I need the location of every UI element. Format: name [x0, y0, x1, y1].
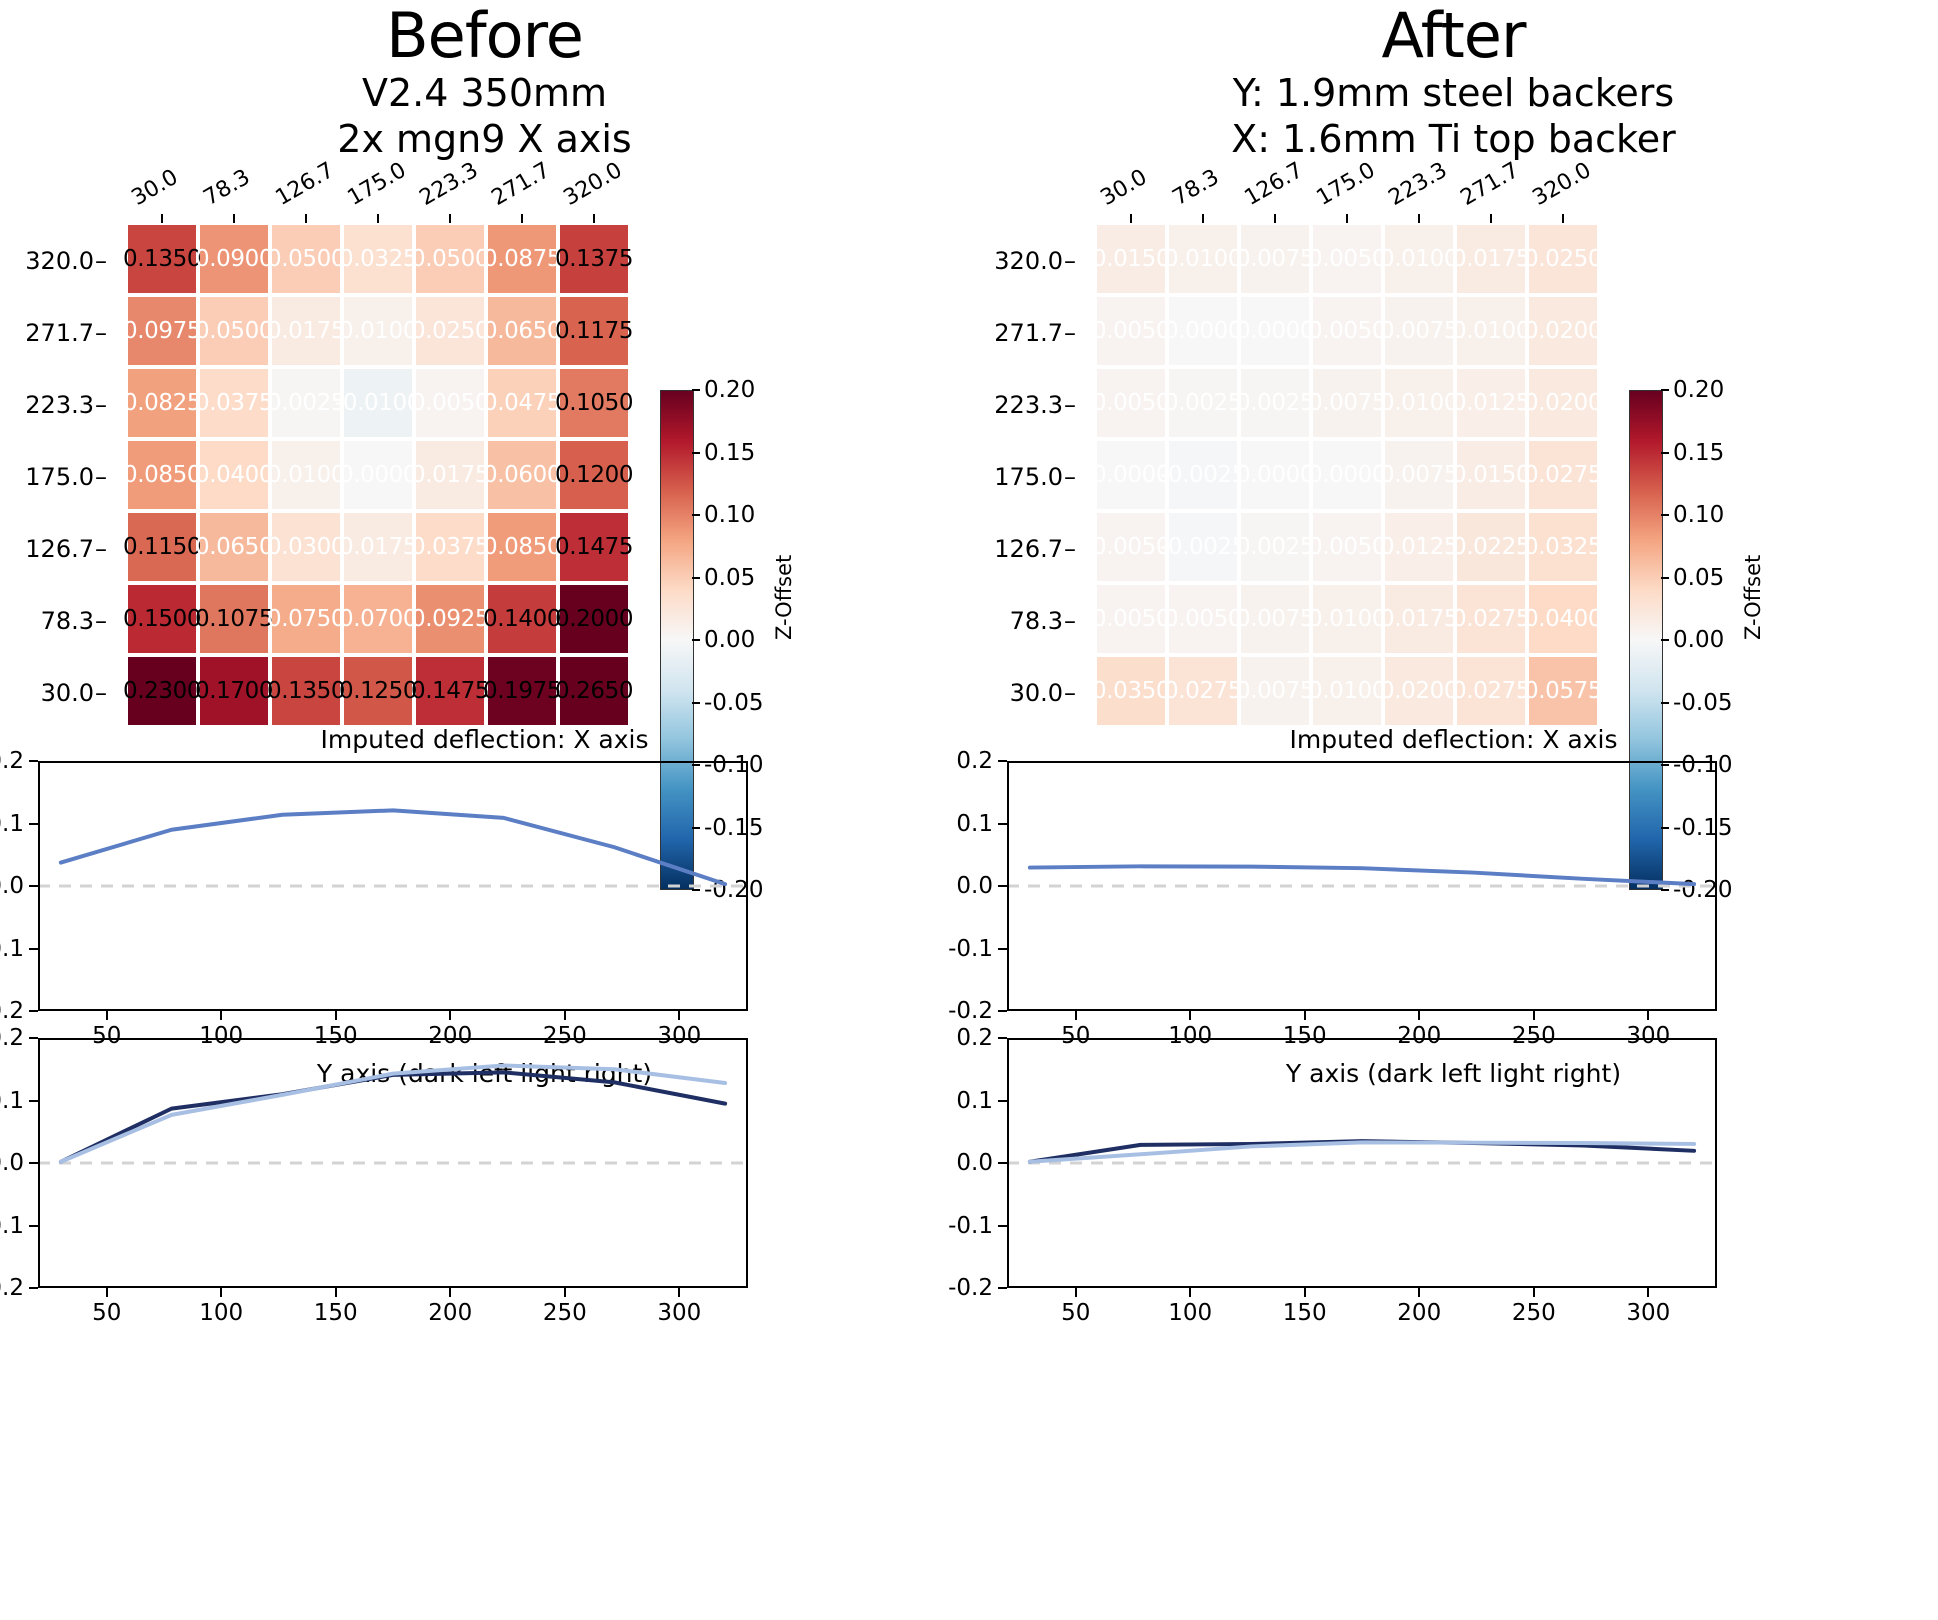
heatmap-cell: 0.0000: [1241, 297, 1309, 365]
heatmap-cell: 0.0000: [344, 441, 412, 509]
panel-subtitle-2: 2x mgn9 X axis: [0, 116, 969, 162]
heatmap-cell: 0.0150: [1097, 225, 1165, 293]
heatmap-cell: 0.0175: [272, 297, 340, 365]
heatmap-cell: 0.0825: [128, 369, 196, 437]
figure-root: BeforeV2.4 350mm2x mgn9 X axis30.078.312…: [0, 0, 1938, 1620]
heatmap-row-label: 223.3: [25, 391, 94, 419]
row-tick: –: [1063, 679, 1077, 707]
heatmap-row-label: 271.7: [994, 319, 1063, 347]
colorbar-axis-label: Z-Offset: [1741, 555, 1765, 640]
heatmap-cell: 0.0100: [1169, 225, 1237, 293]
heatmap-row-label-wrap: 271.7–: [0, 297, 112, 369]
y-tick-mark: [29, 1162, 38, 1164]
x-tick-mark: [1075, 1011, 1077, 1020]
colorbar-tickmark: [692, 639, 700, 641]
heatmap-cell: 0.0300: [272, 513, 340, 581]
heatmap-cell: 0.0050: [1097, 513, 1165, 581]
column-tick: [521, 214, 523, 223]
y-tick-label: 0.2: [956, 1025, 993, 1051]
heatmap-cell: 0.2000: [560, 585, 628, 653]
x-tick-mark: [1189, 1288, 1191, 1297]
x-tick-label: 200: [428, 1300, 472, 1326]
x-tick-mark: [678, 1288, 680, 1297]
colorbar-tickmark: [1661, 452, 1669, 454]
x-tick-mark: [1075, 1288, 1077, 1297]
heatmap-row-label-wrap: 320.0–: [0, 225, 112, 297]
heatmap-cell: 0.0400: [200, 441, 268, 509]
heatmap-cell: 0.0275: [1457, 657, 1525, 725]
heatmap-row-label: 320.0: [25, 247, 94, 275]
heatmap-cell: 0.0325: [1529, 513, 1597, 581]
heatmap-cell: 0.0500: [200, 297, 268, 365]
y-tick-label: -0.2: [948, 998, 993, 1024]
panel-title: After: [969, 2, 1938, 70]
heatmap-cell: 0.0975: [128, 297, 196, 365]
line-plot-plot_top: Imputed deflection: X axis0.20.10.0-0.1-…: [969, 725, 1938, 1065]
y-tick-label: 0.1: [956, 811, 993, 837]
x-tick-mark: [1418, 1011, 1420, 1020]
heatmap: 30.078.3126.7175.0223.3271.7320.0320.0–2…: [969, 165, 1938, 730]
heatmap-row-label: 271.7: [25, 319, 94, 347]
x-tick-mark: [220, 1288, 222, 1297]
heatmap-column-label: 271.7: [488, 158, 555, 211]
heatmap-row-label: 126.7: [25, 535, 94, 563]
heatmap-cell: 0.0025: [1169, 369, 1237, 437]
heatmap-row-label: 126.7: [994, 535, 1063, 563]
heatmap-row-label-wrap: 223.3–: [969, 369, 1081, 441]
x-tick-mark: [1647, 1011, 1649, 1020]
x-tick-mark: [449, 1288, 451, 1297]
heatmap-cell: 0.0475: [488, 369, 556, 437]
colorbar-tick-label: 0.15: [704, 440, 755, 466]
panel-subtitle-2: X: 1.6mm Ti top backer: [969, 116, 1938, 162]
heatmap-cell: 0.1150: [128, 513, 196, 581]
x-tick-mark: [106, 1288, 108, 1297]
colorbar-tick-label: 0.00: [704, 627, 755, 653]
y-tick-label: -0.1: [0, 936, 24, 962]
row-tick: –: [94, 679, 108, 707]
column-tick: [449, 214, 451, 223]
heatmap-cell: 0.0200: [1529, 369, 1597, 437]
heatmap-cell: 0.1175: [560, 297, 628, 365]
heatmap-cell: 0.0050: [1097, 297, 1165, 365]
colorbar-tick-label: 0.15: [1673, 440, 1724, 466]
colorbar-tickmark: [692, 389, 700, 391]
heatmap-row-label-wrap: 78.3–: [0, 585, 112, 657]
heatmap-cell: 0.1050: [560, 369, 628, 437]
column-tick: [161, 214, 163, 223]
heatmap-cell: 0.0325: [344, 225, 412, 293]
plot-title: Imputed deflection: X axis: [0, 725, 969, 754]
heatmap-column-label: 175.0: [344, 158, 411, 211]
heatmap-cell: 0.0225: [1457, 513, 1525, 581]
colorbar-tick-label: -0.05: [1673, 690, 1733, 716]
heatmap-column-label: 78.3: [1169, 165, 1224, 211]
y-tick-mark: [998, 760, 1007, 762]
column-tick: [1418, 214, 1420, 223]
x-tick-mark: [449, 1011, 451, 1020]
y-tick-label: 0.0: [956, 873, 993, 899]
heatmap-cell: 0.0850: [128, 441, 196, 509]
heatmap-cell: 0.0100: [344, 297, 412, 365]
y-tick-mark: [998, 823, 1007, 825]
colorbar-tick-label: 0.05: [704, 565, 755, 591]
heatmap-cell: 0.0750: [272, 585, 340, 653]
heatmap-cell: 0.0075: [1241, 585, 1309, 653]
heatmap-cell: 0.0125: [1385, 513, 1453, 581]
x-tick-mark: [1189, 1011, 1191, 1020]
heatmap-cell: 0.1975: [488, 657, 556, 725]
colorbar-tick-label: -0.05: [704, 690, 764, 716]
heatmap-cell: 0.0700: [344, 585, 412, 653]
column-tick: [377, 214, 379, 223]
heatmap-cell: 0.1250: [344, 657, 412, 725]
row-tick: –: [1063, 607, 1077, 635]
y-tick-label: 0.1: [0, 1088, 24, 1114]
colorbar-tickmark: [692, 577, 700, 579]
heatmap-column-label: 78.3: [200, 165, 255, 211]
heatmap-cell: 0.1075: [200, 585, 268, 653]
heatmap-cell: 0.0850: [488, 513, 556, 581]
heatmap-cell: 0.2650: [560, 657, 628, 725]
y-tick-mark: [29, 823, 38, 825]
x-tick-mark: [1647, 1288, 1649, 1297]
heatmap-cell: 0.0575: [1529, 657, 1597, 725]
y-tick-label: 0.2: [0, 1025, 24, 1051]
panel-before: BeforeV2.4 350mm2x mgn9 X axis30.078.312…: [0, 0, 969, 1620]
heatmap-row-label: 223.3: [994, 391, 1063, 419]
y-tick-label: 0.0: [0, 873, 24, 899]
column-tick: [1202, 214, 1204, 223]
y-tick-label: -0.2: [0, 998, 24, 1024]
heatmap-cell: 0.0050: [1169, 585, 1237, 653]
y-tick-mark: [998, 1287, 1007, 1289]
colorbar-tickmark: [1661, 702, 1669, 704]
heatmap-cell: 0.0000: [1169, 297, 1237, 365]
heatmap-cell: 0.0000: [1097, 441, 1165, 509]
heatmap-cell: 0.0125: [1457, 369, 1525, 437]
row-tick: –: [94, 319, 108, 347]
heatmap-cell: 0.0025: [1241, 369, 1309, 437]
heatmap-cell: 0.1350: [128, 225, 196, 293]
y-tick-label: 0.2: [956, 748, 993, 774]
y-tick-mark: [29, 1287, 38, 1289]
column-tick: [1490, 214, 1492, 223]
heatmap-cell: 0.0025: [272, 369, 340, 437]
heatmap-row-label-wrap: 78.3–: [969, 585, 1081, 657]
heatmap-cell: 0.1475: [560, 513, 628, 581]
heatmap-cell: 0.0175: [344, 513, 412, 581]
heatmap-cell: 0.0275: [1169, 657, 1237, 725]
column-tick: [1274, 214, 1276, 223]
heatmap-row-label-wrap: 271.7–: [969, 297, 1081, 369]
heatmap-cell: 0.0250: [1529, 225, 1597, 293]
y-tick-mark: [29, 948, 38, 950]
column-tick: [593, 214, 595, 223]
heatmap-cell: 0.0075: [1241, 225, 1309, 293]
heatmap: 30.078.3126.7175.0223.3271.7320.0320.0–2…: [0, 165, 969, 730]
x-tick-mark: [335, 1011, 337, 1020]
line-plot-plot_bottom: 0.20.10.0-0.1-0.250100150200250300: [0, 1032, 969, 1372]
heatmap-cell: 0.0875: [488, 225, 556, 293]
colorbar-tickmark: [1661, 639, 1669, 641]
heatmap-row-label: 175.0: [994, 463, 1063, 491]
x-tick-label: 50: [92, 1300, 121, 1326]
heatmap-cell: 0.0275: [1529, 441, 1597, 509]
heatmap-cell: 0.0075: [1385, 297, 1453, 365]
y-tick-label: 0.2: [0, 748, 24, 774]
x-tick-label: 150: [314, 1300, 358, 1326]
plot-area: [1007, 761, 1717, 1011]
heatmap-row-label-wrap: 126.7–: [969, 513, 1081, 585]
heatmap-column-label: 175.0: [1313, 158, 1380, 211]
x-tick-label: 200: [1397, 1300, 1441, 1326]
y-tick-mark: [29, 1100, 38, 1102]
heatmap-cell: 0.0075: [1313, 369, 1381, 437]
heatmap-cell: 0.1200: [560, 441, 628, 509]
heatmap-cell: 0.0075: [1385, 441, 1453, 509]
y-tick-mark: [29, 885, 38, 887]
panel-subtitle-1: V2.4 350mm: [0, 70, 969, 116]
y-tick-mark: [998, 1037, 1007, 1039]
heatmap-cell: -0.0025: [1169, 513, 1237, 581]
heatmap-cell: 0.0100: [1313, 657, 1381, 725]
x-tick-label: 100: [199, 1300, 243, 1326]
row-tick: –: [1063, 391, 1077, 419]
column-tick: [305, 214, 307, 223]
colorbar-tickmark: [1661, 577, 1669, 579]
row-tick: –: [1063, 535, 1077, 563]
heatmap-row-label: 30.0: [41, 679, 94, 707]
heatmap-cell: 0.0100: [1313, 585, 1381, 653]
plot-area: [38, 761, 748, 1011]
line-plot-plot_top: Imputed deflection: X axis0.20.10.0-0.1-…: [0, 725, 969, 1065]
heatmap-cell: 0.1500: [128, 585, 196, 653]
heatmap-cell: 0.0900: [200, 225, 268, 293]
plot-title: Imputed deflection: X axis: [969, 725, 1938, 754]
heatmap-row-label-wrap: 30.0–: [969, 657, 1081, 729]
heatmap-grid: 0.01500.01000.00750.00500.01000.01750.02…: [1097, 225, 1597, 725]
heatmap-cell: 0.0350: [1097, 657, 1165, 725]
y-tick-label: 0.1: [0, 811, 24, 837]
heatmap-cell: 0.0275: [1457, 585, 1525, 653]
heatmap-cell: 0.0650: [488, 297, 556, 365]
plot-frame: [1007, 761, 1717, 1011]
y-tick-label: -0.1: [948, 1213, 993, 1239]
heatmap-cell: 0.1375: [560, 225, 628, 293]
heatmap-cell: 0.0200: [1385, 657, 1453, 725]
heatmap-cell: -0.0025: [1169, 441, 1237, 509]
heatmap-cell: 0.0050: [1097, 369, 1165, 437]
colorbar-tickmark: [692, 702, 700, 704]
colorbar-tickmark: [692, 514, 700, 516]
heatmap-cell: 0.0500: [416, 225, 484, 293]
heatmap-column-label: 30.0: [128, 165, 183, 211]
heatmap-row-label: 320.0: [994, 247, 1063, 275]
y-tick-mark: [998, 1162, 1007, 1164]
heatmap-row-label: 30.0: [1010, 679, 1063, 707]
heatmap-cell: 0.0375: [416, 513, 484, 581]
heatmap-cell: 0.0000: [1241, 441, 1309, 509]
heatmap-cell: 0.0200: [1529, 297, 1597, 365]
heatmap-column-label: 30.0: [1097, 165, 1152, 211]
x-tick-mark: [1418, 1288, 1420, 1297]
heatmap-cell: 0.0075: [1241, 657, 1309, 725]
plot-frame: [38, 761, 748, 1011]
x-tick-mark: [678, 1011, 680, 1020]
heatmap-cell: 0.1475: [416, 657, 484, 725]
x-tick-label: 150: [1283, 1300, 1327, 1326]
y-tick-label: -0.1: [948, 936, 993, 962]
heatmap-cell: 0.0400: [1529, 585, 1597, 653]
heatmap-row-label-wrap: 223.3–: [0, 369, 112, 441]
plot-frame: [38, 1038, 748, 1288]
colorbar-tick-label: 0.20: [704, 377, 755, 403]
x-tick-mark: [1533, 1288, 1535, 1297]
heatmap-column-label: 223.3: [1385, 158, 1452, 211]
colorbar-tickmark: [692, 452, 700, 454]
heatmap-cell: 0.0050: [1313, 297, 1381, 365]
heatmap-cell: 0.0175: [416, 441, 484, 509]
heatmap-cell: 0.0050: [1313, 225, 1381, 293]
column-tick: [1562, 214, 1564, 223]
heatmap-column-label: 223.3: [416, 158, 483, 211]
row-tick: –: [94, 463, 108, 491]
plot-frame: [1007, 1038, 1717, 1288]
x-tick-mark: [564, 1011, 566, 1020]
heatmap-cell: 0.0050: [1097, 585, 1165, 653]
colorbar-tick-label: 0.00: [1673, 627, 1724, 653]
heatmap-cell: 0.0000: [1313, 441, 1381, 509]
panel-title: Before: [0, 2, 969, 70]
x-tick-label: 300: [657, 1300, 701, 1326]
heatmap-row-labels: 320.0–271.7–223.3–175.0–126.7–78.3–30.0–: [0, 225, 112, 729]
heatmap-row-label-wrap: 175.0–: [0, 441, 112, 513]
y-tick-mark: [998, 1100, 1007, 1102]
heatmap-row-label: 78.3: [1010, 607, 1063, 635]
colorbar-tick-label: 0.10: [704, 502, 755, 528]
row-tick: –: [94, 607, 108, 635]
x-tick-mark: [220, 1011, 222, 1020]
heatmap-row-labels: 320.0–271.7–223.3–175.0–126.7–78.3–30.0–: [969, 225, 1081, 729]
heatmap-row-label-wrap: 30.0–: [0, 657, 112, 729]
heatmap-cell: 0.0100: [272, 441, 340, 509]
x-tick-mark: [1533, 1011, 1535, 1020]
column-tick: [233, 214, 235, 223]
heatmap-cell: 0.0050: [416, 369, 484, 437]
column-tick: [1346, 214, 1348, 223]
x-tick-mark: [564, 1288, 566, 1297]
heatmap-column-labels: 30.078.3126.7175.0223.3271.7320.0: [128, 165, 648, 225]
heatmap-cell: 0.0050: [1313, 513, 1381, 581]
heatmap-cell: -0.0100: [344, 369, 412, 437]
colorbar-tick-label: 0.20: [1673, 377, 1724, 403]
column-tick: [1130, 214, 1132, 223]
heatmap-column-label: 126.7: [272, 158, 339, 211]
heatmap-cell: 0.1400: [488, 585, 556, 653]
x-tick-mark: [335, 1288, 337, 1297]
y-tick-label: 0.0: [956, 1150, 993, 1176]
heatmap-column-label: 271.7: [1457, 158, 1524, 211]
line-plot-plot_bottom: 0.20.10.0-0.1-0.250100150200250300: [969, 1032, 1938, 1372]
row-tick: –: [94, 535, 108, 563]
y-tick-mark: [29, 1037, 38, 1039]
heatmap-cell: 0.0175: [1457, 225, 1525, 293]
y-tick-mark: [29, 760, 38, 762]
y-tick-label: -0.1: [0, 1213, 24, 1239]
x-tick-label: 50: [1061, 1300, 1090, 1326]
heatmap-cell: 0.0925: [416, 585, 484, 653]
y-tick-mark: [29, 1010, 38, 1012]
panel-after: AfterY: 1.9mm steel backersX: 1.6mm Ti t…: [969, 0, 1938, 1620]
heatmap-cell: 0.0100: [1457, 297, 1525, 365]
y-tick-mark: [29, 1225, 38, 1227]
row-tick: –: [1063, 247, 1077, 275]
x-tick-label: 250: [1512, 1300, 1556, 1326]
row-tick: –: [1063, 319, 1077, 347]
y-tick-mark: [998, 1010, 1007, 1012]
plot-area: [38, 1038, 748, 1288]
heatmap-cell: 0.0375: [200, 369, 268, 437]
heatmap-cell: 0.0650: [200, 513, 268, 581]
heatmap-column-label: 320.0: [1529, 158, 1596, 211]
y-tick-label: -0.2: [948, 1275, 993, 1301]
x-tick-mark: [1304, 1011, 1306, 1020]
x-tick-mark: [106, 1011, 108, 1020]
y-tick-mark: [998, 885, 1007, 887]
heatmap-cell: 0.0250: [416, 297, 484, 365]
heatmap-cell: 0.0100: [1385, 225, 1453, 293]
x-tick-label: 250: [543, 1300, 587, 1326]
x-tick-label: 100: [1168, 1300, 1212, 1326]
row-tick: –: [94, 391, 108, 419]
heatmap-column-labels: 30.078.3126.7175.0223.3271.7320.0: [1097, 165, 1617, 225]
y-tick-mark: [998, 1225, 1007, 1227]
heatmap-column-label: 320.0: [560, 158, 627, 211]
heatmap-row-label-wrap: 126.7–: [0, 513, 112, 585]
heatmap-cell: 0.1700: [200, 657, 268, 725]
plot-area: [1007, 1038, 1717, 1288]
colorbar-tick-label: 0.10: [1673, 502, 1724, 528]
x-tick-label: 300: [1626, 1300, 1670, 1326]
x-tick-mark: [1304, 1288, 1306, 1297]
heatmap-cell: 0.0100: [1385, 369, 1453, 437]
heatmap-column-label: 126.7: [1241, 158, 1308, 211]
heatmap-grid: 0.13500.09000.05000.03250.05000.08750.13…: [128, 225, 628, 725]
heatmap-cell: 0.0175: [1385, 585, 1453, 653]
y-tick-label: 0.1: [956, 1088, 993, 1114]
heatmap-cell: 0.0500: [272, 225, 340, 293]
heatmap-cell: 0.0600: [488, 441, 556, 509]
heatmap-row-label-wrap: 175.0–: [969, 441, 1081, 513]
panel-subtitle-1: Y: 1.9mm steel backers: [969, 70, 1938, 116]
heatmap-cell: 0.0150: [1457, 441, 1525, 509]
heatmap-cell: 0.1350: [272, 657, 340, 725]
heatmap-cell: 0.2300: [128, 657, 196, 725]
colorbar-tickmark: [1661, 514, 1669, 516]
colorbar-tickmark: [1661, 389, 1669, 391]
y-tick-label: 0.0: [0, 1150, 24, 1176]
heatmap-cell: 0.0025: [1241, 513, 1309, 581]
row-tick: –: [1063, 463, 1077, 491]
heatmap-row-label: 78.3: [41, 607, 94, 635]
row-tick: –: [94, 247, 108, 275]
colorbar-axis-label: Z-Offset: [772, 555, 796, 640]
heatmap-row-label: 175.0: [25, 463, 94, 491]
y-tick-label: -0.2: [0, 1275, 24, 1301]
heatmap-row-label-wrap: 320.0–: [969, 225, 1081, 297]
colorbar-tick-label: 0.05: [1673, 565, 1724, 591]
